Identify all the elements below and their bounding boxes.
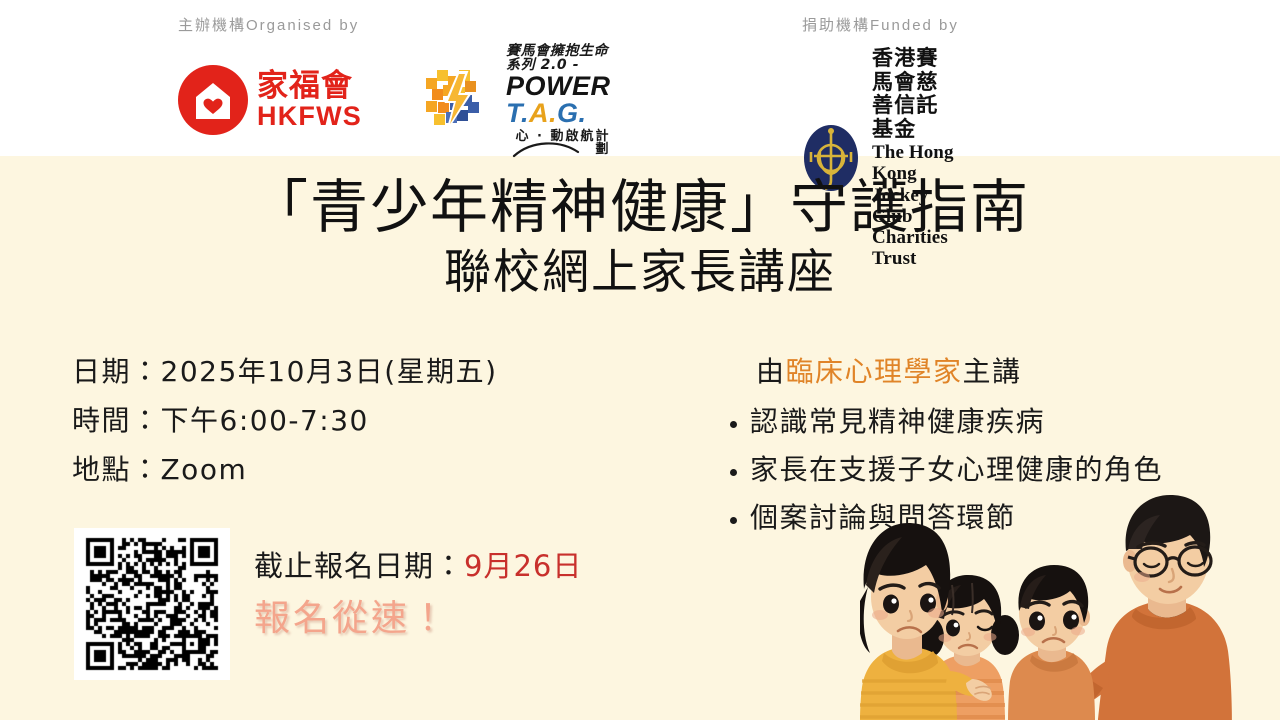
registration-deadline-block: 截止報名日期：9月26日 報名從速！ <box>254 552 684 637</box>
sponsor-header-band: 主辦機構Organised by 家福會 HKFWS <box>0 0 1280 156</box>
list-item: 個案討論與問答環節 <box>724 504 1264 532</box>
hkfws-chinese-name: 家福會 <box>257 71 362 102</box>
power-tag-arc-icon <box>512 142 604 158</box>
register-now-cta: 報名從速！ <box>254 601 684 637</box>
deadline-line: 截止報名日期：9月26日 <box>254 552 684 581</box>
speaker-prefix: 由 <box>756 355 786 388</box>
power-tag-word-a: A. <box>529 98 557 128</box>
power-tag-wordmark: 賽馬會擁抱生命系列 2.0 - POWER T.A.G. 心 · 動啟航計劃 <box>506 44 611 156</box>
lightning-bolt-mosaic-icon <box>424 68 498 132</box>
topic-list: 認識常見精神健康疾病 家長在支援子女心理健康的角色 個案討論與問答環節 <box>724 408 1264 532</box>
house-heart-shape-icon <box>194 81 232 121</box>
hkjc-chinese-name: 香港賽馬會慈善信託基金 <box>872 46 959 140</box>
hkfws-wordmark: 家福會 HKFWS <box>257 71 362 130</box>
power-tag-word-power: POWER <box>506 71 611 101</box>
hkfws-logo: 家福會 HKFWS <box>178 65 362 135</box>
deadline-label: 截止報名日期： <box>254 549 464 583</box>
power-tag-main-wordmark: POWER T.A.G. <box>506 73 611 127</box>
speaker-line: 由臨床心理學家主講 <box>756 358 1264 386</box>
house-heart-circle-icon <box>178 65 248 135</box>
qr-code-canvas[interactable] <box>74 528 230 680</box>
speaker-suffix: 主講 <box>963 355 1022 388</box>
power-tag-word-g: G. <box>557 98 587 128</box>
webinar-poster: 主辦機構Organised by 家福會 HKFWS <box>0 0 1280 720</box>
hkfws-english-name: HKFWS <box>257 103 362 130</box>
boy-figure <box>1008 565 1095 720</box>
event-time-row: 時間：下午6:00-7:30 <box>72 407 632 435</box>
power-tag-tagline-top: 賽馬會擁抱生命系列 2.0 - <box>506 44 611 72</box>
title-line-1: 「青少年精神健康」守護指南 <box>0 176 1280 239</box>
event-date-row: 日期：2025年10月3日(星期五) <box>72 358 632 386</box>
event-venue-row: 地點：Zoom <box>72 456 632 484</box>
event-details-list: 日期：2025年10月3日(星期五) 時間：下午6:00-7:30 地點：Zoo… <box>72 358 632 505</box>
organised-by-caption: 主辦機構Organised by <box>178 14 359 35</box>
funded-by-group: 捐助機構Funded by 香港賽馬會慈 <box>802 14 959 35</box>
registration-qr-code[interactable] <box>74 528 230 680</box>
power-tag-word-t: T. <box>506 98 529 128</box>
power-tag-logo: 賽馬會擁抱生命系列 2.0 - POWER T.A.G. 心 · 動啟航計劃 <box>424 44 611 156</box>
speaker-and-topics: 由臨床心理學家主講 認識常見精神健康疾病 家長在支援子女心理健康的角色 個案討論… <box>724 358 1264 552</box>
title-line-2: 聯校網上家長講座 <box>0 247 1280 299</box>
organised-by-group: 主辦機構Organised by 家福會 HKFWS <box>178 14 359 35</box>
girl-figure <box>916 575 1019 720</box>
page-title: 「青少年精神健康」守護指南 聯校網上家長講座 <box>0 176 1280 298</box>
deadline-date: 9月26日 <box>464 549 582 583</box>
funded-by-caption: 捐助機構Funded by <box>802 14 959 35</box>
list-item: 家長在支援子女心理健康的角色 <box>724 456 1264 484</box>
mother-figure <box>860 523 992 720</box>
organised-by-logos: 家福會 HKFWS <box>178 44 611 156</box>
list-item: 認識常見精神健康疾病 <box>724 408 1264 436</box>
speaker-highlight: 臨床心理學家 <box>786 355 963 388</box>
